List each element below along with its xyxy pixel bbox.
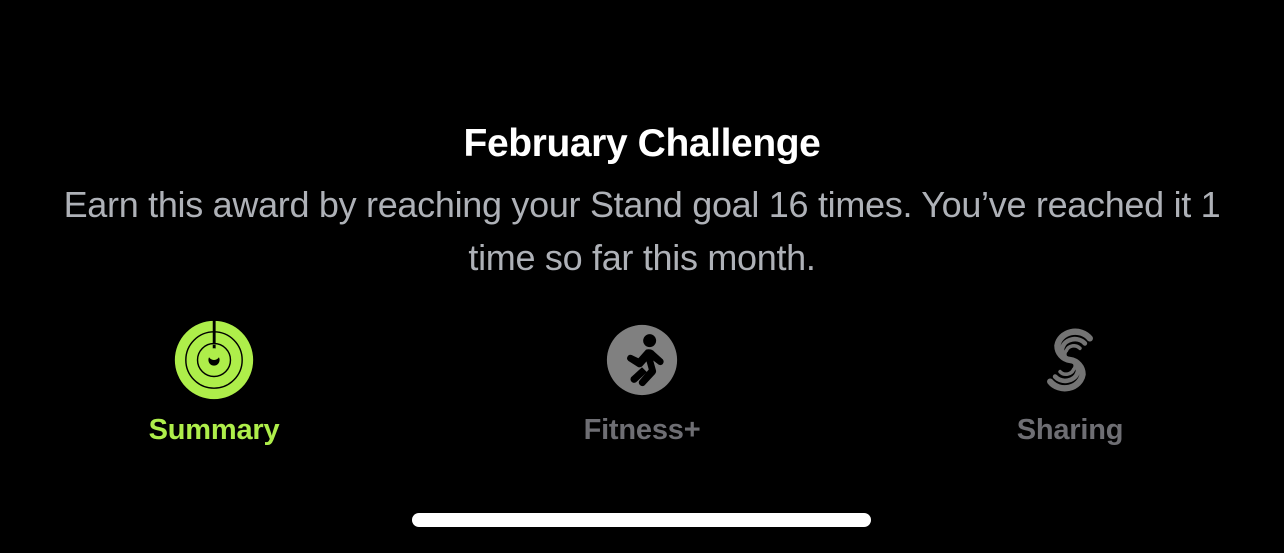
fitness-app-screen: February Challenge Earn this award by re… <box>0 0 1284 553</box>
tab-sharing-label: Sharing <box>1017 413 1124 447</box>
tab-fitness-plus[interactable]: Fitness+ <box>492 315 792 447</box>
challenge-description: Earn this award by reaching your Stand g… <box>57 178 1227 284</box>
tab-fitness-plus-label: Fitness+ <box>584 413 701 447</box>
tab-summary-label: Summary <box>149 413 280 447</box>
tab-sharing[interactable]: Sharing <box>920 315 1220 447</box>
home-indicator[interactable] <box>412 513 871 527</box>
tab-summary[interactable]: Summary <box>64 315 364 447</box>
running-person-circle-icon <box>597 315 687 405</box>
challenge-detail-block: February Challenge Earn this award by re… <box>0 118 1284 284</box>
sharing-s-icon <box>1025 315 1115 405</box>
challenge-title: February Challenge <box>0 118 1284 170</box>
tab-bar: Summary Fitness+ <box>0 315 1284 455</box>
activity-rings-icon <box>169 315 259 405</box>
